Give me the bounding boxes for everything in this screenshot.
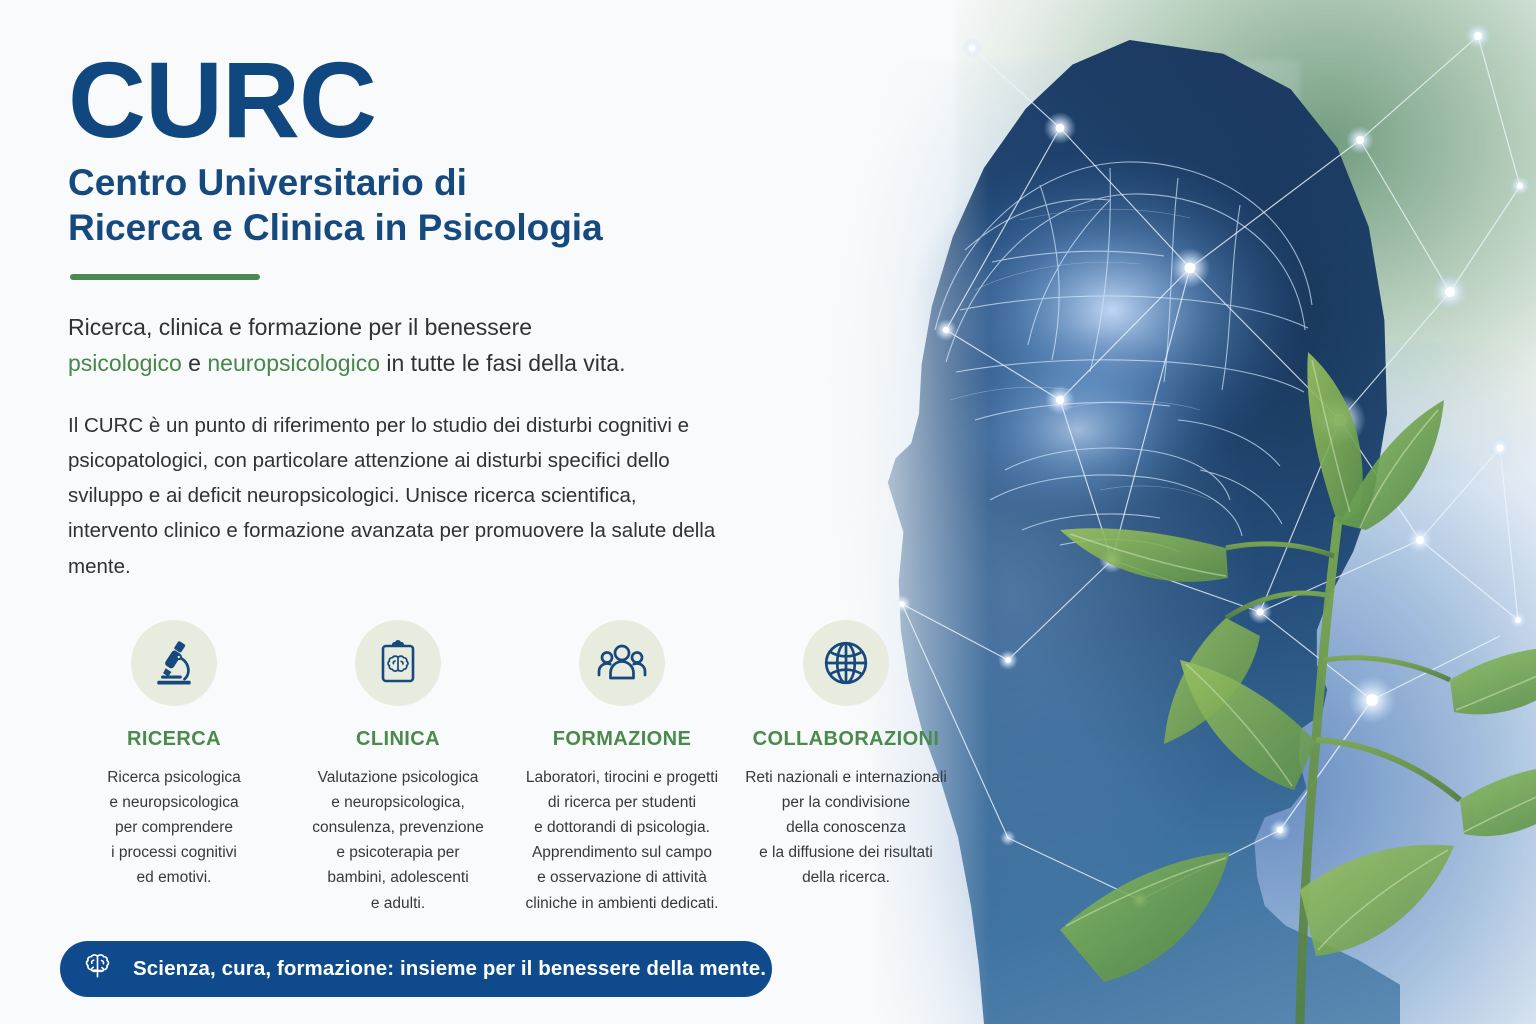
subtitle-line-2: Ricerca e Clinica in Psicologia: [68, 205, 800, 250]
lede-highlight-neuropsicologico: neuropsicologico: [207, 350, 380, 376]
brain-icon: [82, 951, 113, 987]
page-subtitle: Centro Universitario di Ricerca e Clinic…: [68, 160, 800, 250]
tagline-banner: Scienza, cura, formazione: insieme per i…: [60, 941, 772, 997]
feature-description: Valutazione psicologica e neuropsicologi…: [312, 765, 483, 916]
feature-column-ricerca: RICERCA Ricerca psicologica e neuropsico…: [62, 620, 286, 916]
lede-text: Ricerca, clinica e formazione per il ben…: [68, 310, 800, 381]
lede-part-1: Ricerca, clinica e formazione per il ben…: [68, 314, 532, 340]
feature-description: Ricerca psicologica e neuropsicologica p…: [107, 765, 241, 891]
people-group-icon: [579, 620, 665, 706]
page-title-logo: CURC: [68, 46, 800, 154]
feature-description: Reti nazionali e internazionali per la c…: [745, 765, 947, 891]
globe-icon: [803, 620, 889, 706]
microscope-icon: [131, 620, 217, 706]
feature-column-collaborazioni: COLLABORAZIONI Reti nazionali e internaz…: [734, 620, 958, 916]
feature-column-formazione: FORMAZIONE Laboratori, tirocini e proget…: [510, 620, 734, 916]
lede-part-2: in tutte le fasi della vita.: [380, 350, 625, 376]
feature-title: RICERCA: [127, 728, 221, 751]
green-divider-rule: [70, 274, 260, 280]
clipboard-brain-icon: [355, 620, 441, 706]
feature-columns: RICERCA Ricerca psicologica e neuropsico…: [62, 620, 962, 916]
subtitle-line-1: Centro Universitario di: [68, 160, 800, 205]
tagline-text: Scienza, cura, formazione: insieme per i…: [133, 957, 766, 981]
lede-highlight-psicologico: psicologico: [68, 350, 182, 376]
poster-canvas: CURC Centro Universitario di Ricerca e C…: [0, 0, 1536, 1024]
feature-title: COLLABORAZIONI: [753, 728, 940, 751]
feature-column-clinica: CLINICA Valutazione psicologica e neurop…: [286, 620, 510, 916]
lede-joiner: e: [182, 350, 208, 376]
feature-title: CLINICA: [356, 728, 440, 751]
feature-description: Laboratori, tirocini e progetti di ricer…: [526, 765, 719, 916]
description-paragraph: Il CURC è un punto di riferimento per lo…: [68, 408, 718, 584]
neural-brain: [907, 145, 1317, 552]
feature-title: FORMAZIONE: [553, 728, 691, 751]
